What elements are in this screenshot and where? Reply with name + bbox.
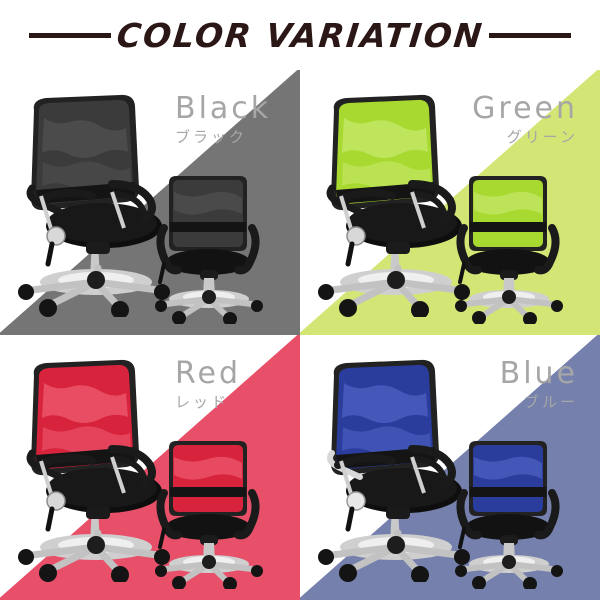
color-variation-page: COLOR VARIATION Black ブラック xyxy=(0,0,600,600)
chair-image-red-small xyxy=(148,431,273,589)
chair-image-green-small xyxy=(448,166,573,324)
variation-grid: Black ブラック xyxy=(0,70,600,600)
variation-name-en: Black xyxy=(175,94,271,124)
variation-name-en: Green xyxy=(472,94,578,124)
title-rule-right xyxy=(489,33,571,38)
title-rule-left xyxy=(29,33,111,38)
variation-name-jp: ブルー xyxy=(500,395,578,410)
variation-name-jp: ブラック xyxy=(175,130,271,145)
variation-cell-red[interactable]: Red レッド xyxy=(0,335,300,600)
variation-name-en: Blue xyxy=(500,359,578,389)
variation-label-green: Green グリーン xyxy=(472,94,578,145)
variation-label-blue: Blue ブルー xyxy=(500,359,578,410)
variation-name-jp: レッド xyxy=(175,395,241,410)
variation-label-red: Red レッド xyxy=(175,359,241,410)
page-header: COLOR VARIATION xyxy=(0,0,600,70)
chair-image-black-small xyxy=(148,166,273,324)
variation-name-jp: グリーン xyxy=(472,130,578,145)
variation-cell-blue[interactable]: Blue ブルー xyxy=(300,335,600,600)
variation-cell-black[interactable]: Black ブラック xyxy=(0,70,300,335)
variation-label-black: Black ブラック xyxy=(175,94,271,145)
chair-image-blue-small xyxy=(448,431,573,589)
variation-cell-green[interactable]: Green グリーン xyxy=(300,70,600,335)
page-title: COLOR VARIATION xyxy=(115,19,485,52)
variation-name-en: Red xyxy=(175,359,241,389)
